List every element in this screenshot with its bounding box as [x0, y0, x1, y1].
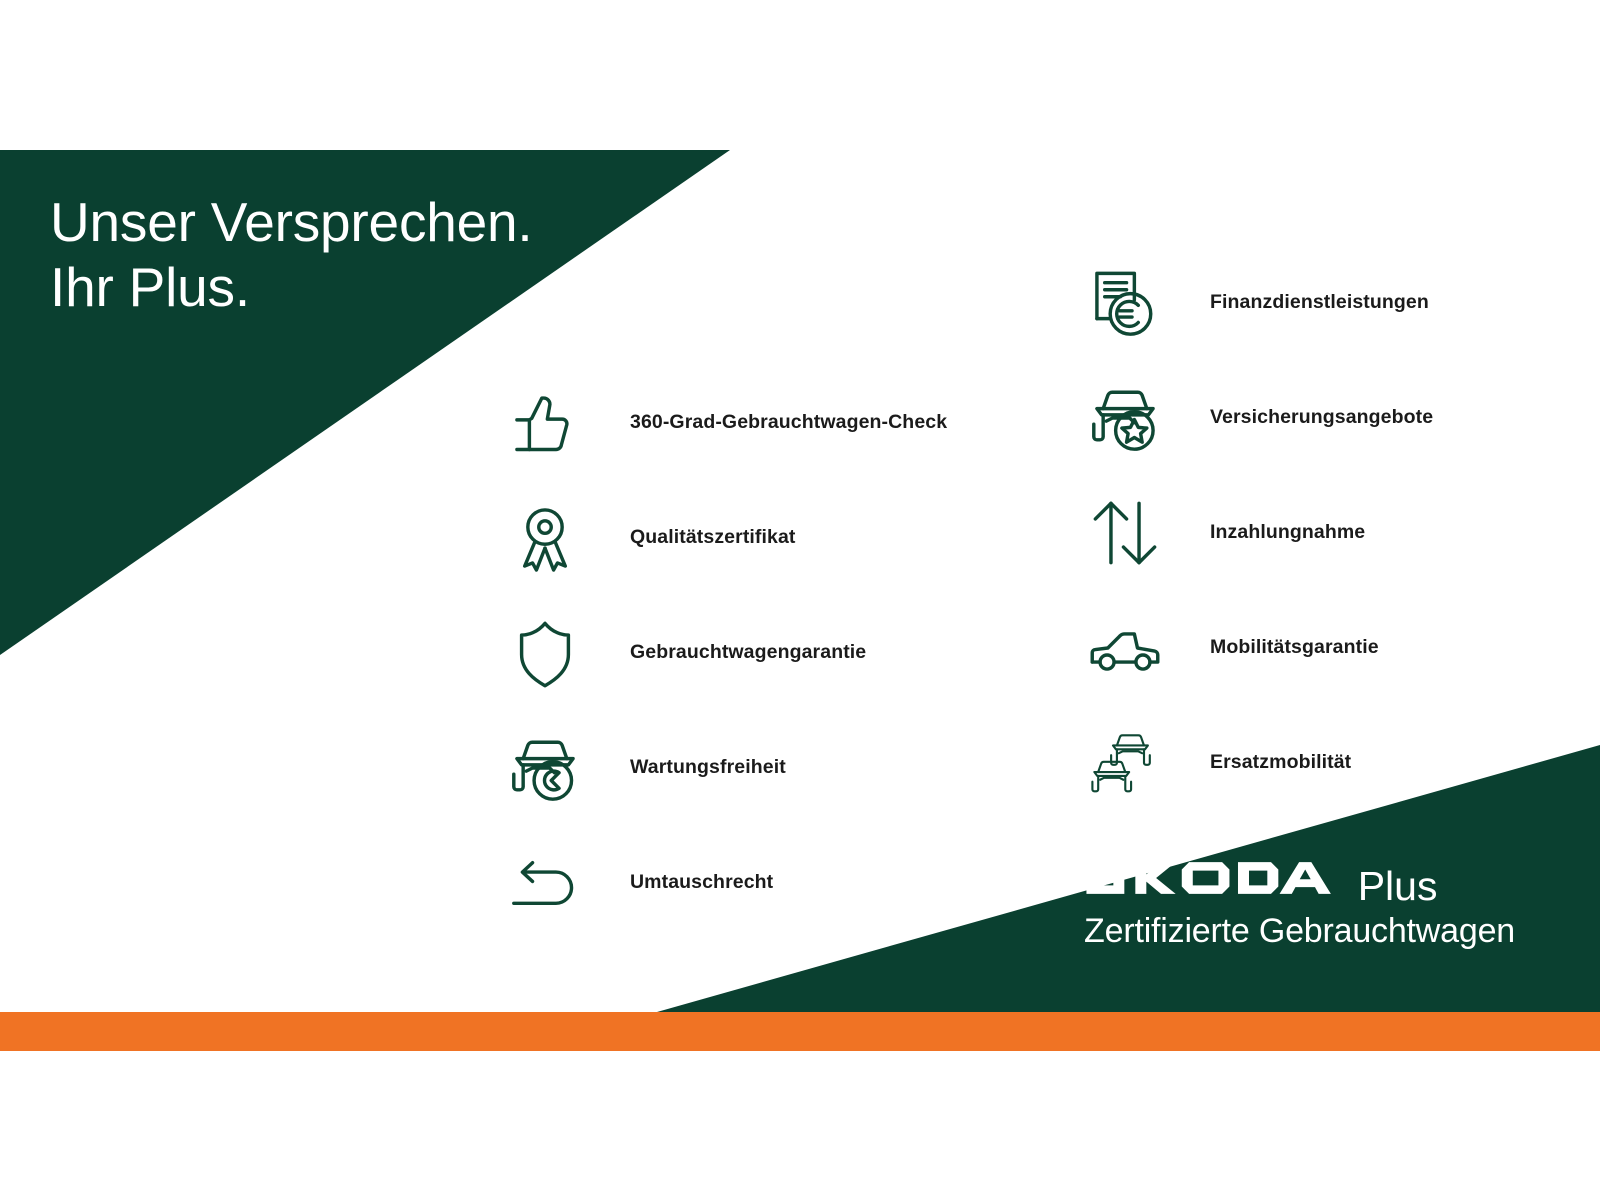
brand-primary-row: Plus: [1084, 856, 1515, 907]
feature-label: Inzahlungnahme: [1210, 521, 1365, 544]
feature-item-umtauschrecht: Umtauschrecht: [500, 825, 947, 940]
feature-item-wartungsfreiheit: Wartungsfreiheit: [500, 710, 947, 825]
feature-item-ersatzmobilitaet: Ersatzmobilität: [1080, 705, 1433, 820]
feature-label: Ersatzmobilität: [1210, 751, 1351, 774]
feature-label: Finanzdienstleistungen: [1210, 291, 1429, 314]
thumbs-up-icon: [500, 378, 590, 468]
feature-label: Wartungsfreiheit: [630, 756, 786, 779]
feature-label: Versicherungsangebote: [1210, 406, 1433, 429]
car-star-icon: [1080, 373, 1170, 463]
car-wrench-icon: [500, 723, 590, 813]
feature-item-inzahlungnahme: Inzahlungnahme: [1080, 475, 1433, 590]
feature-item-finanzdienstleistungen: Finanzdienstleistungen: [1080, 245, 1433, 360]
content-card: Unser Versprechen. Ihr Plus. 360-Grad-Ge…: [0, 150, 1600, 1012]
award-ribbon-icon: [500, 493, 590, 583]
feature-label: Mobilitätsgarantie: [1210, 636, 1379, 659]
up-down-arrows-icon: [1080, 488, 1170, 578]
brand-plus-label: Plus: [1358, 866, 1438, 907]
two-cars-icon: [1080, 718, 1170, 808]
feature-label: Gebrauchtwagengarantie: [630, 641, 866, 664]
feature-column-right: Finanzdienstleistungen Versicherungsange…: [1080, 245, 1433, 820]
car-profile-icon: [1080, 603, 1170, 693]
feature-item-versicherungsangebote: Versicherungsangebote: [1080, 360, 1433, 475]
feature-item-360-grad-check: 360-Grad-Gebrauchtwagen-Check: [500, 365, 947, 480]
feature-item-mobilitaetsgarantie: Mobilitätsgarantie: [1080, 590, 1433, 705]
feature-label: Umtauschrecht: [630, 871, 773, 894]
feature-column-left: 360-Grad-Gebrauchtwagen-Check Qualitätsz…: [500, 365, 947, 940]
headline-line-1: Unser Versprechen.: [50, 190, 532, 255]
return-arrow-icon: [500, 838, 590, 928]
feature-label: 360-Grad-Gebrauchtwagen-Check: [630, 411, 947, 434]
feature-item-qualitaetszertifikat: Qualitätszertifikat: [500, 480, 947, 595]
shield-icon: [500, 608, 590, 698]
skoda-wordmark: [1084, 856, 1341, 900]
headline-line-2: Ihr Plus.: [50, 255, 532, 320]
orange-footer-bar: [0, 1012, 1600, 1051]
feature-label: Qualitätszertifikat: [630, 526, 796, 549]
feature-item-gebrauchtwagengarantie: Gebrauchtwagengarantie: [500, 595, 947, 710]
brand-lockup: Plus Zertifizierte Gebrauchtwagen: [1084, 856, 1515, 950]
poster-canvas: Unser Versprechen. Ihr Plus. 360-Grad-Ge…: [0, 0, 1600, 1200]
document-euro-icon: [1080, 258, 1170, 348]
brand-subtitle: Zertifizierte Gebrauchtwagen: [1084, 913, 1515, 950]
headline: Unser Versprechen. Ihr Plus.: [50, 190, 532, 320]
